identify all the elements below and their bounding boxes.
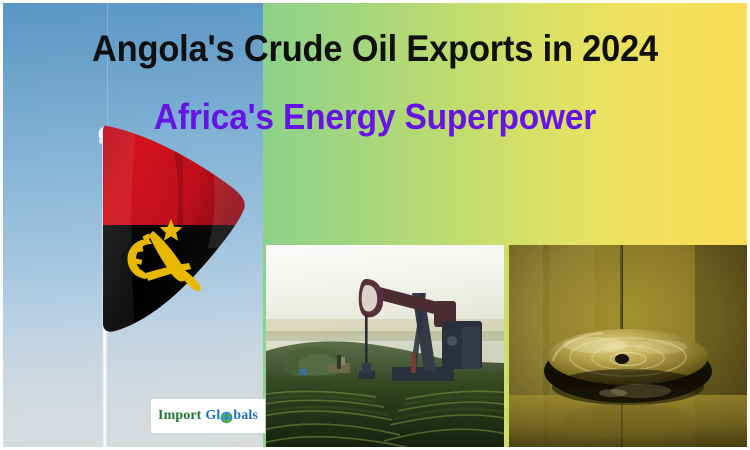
logo-word-import: Import [158,409,201,423]
banner-stage: Angola's Crude Oil Exports in 2024 Afric… [3,3,747,447]
page-subtitle: Africa's Energy Superpower [29,95,721,139]
oil-droplet-photo [509,245,747,447]
logo-word-gl: Gl [205,409,220,423]
banner-root: Angola's Crude Oil Exports in 2024 Afric… [0,0,750,450]
globe-icon [220,411,233,424]
import-globals-logo[interactable]: Import Gl bals [151,399,265,433]
page-title: Angola's Crude Oil Exports in 2024 [29,27,721,71]
logo-text: Import Gl bals [158,409,258,423]
logo-word-bals: bals [233,409,258,423]
oil-pumpjack-photo [266,245,504,447]
oil-droplet [544,329,712,405]
